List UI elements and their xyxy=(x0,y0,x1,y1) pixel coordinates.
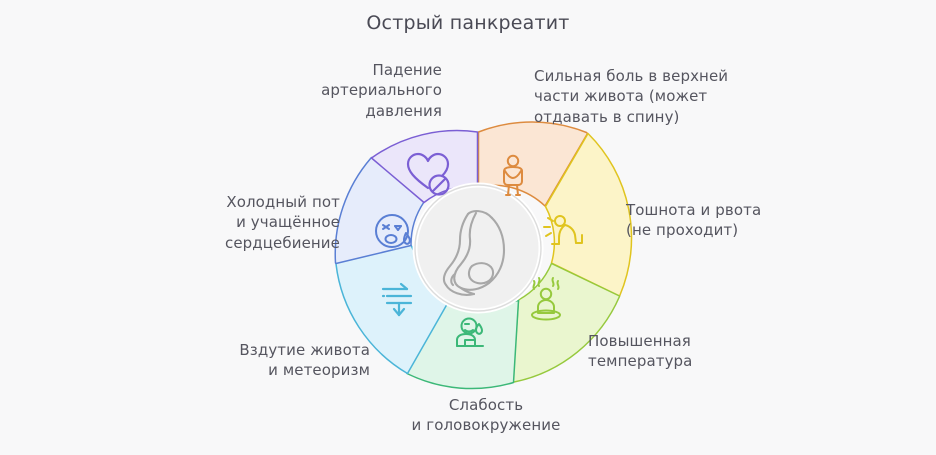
label-fever: Повышенная температура xyxy=(588,331,808,372)
infographic-canvas: Острый панкреатит xyxy=(0,0,936,455)
label-bloating: Вздутие живота и метеоризм xyxy=(150,340,370,381)
label-severe-pain: Сильная боль в верхней части живота (мож… xyxy=(534,66,794,127)
label-nausea-vomiting: Тошнота и рвота (не проходит) xyxy=(626,200,856,241)
label-cold-sweat: Холодный пот и учащённое сердцебиение xyxy=(140,192,340,253)
label-weakness-dizziness: Слабость и головокружение xyxy=(366,395,606,436)
label-low-blood-pressure: Падение артериального давления xyxy=(190,60,442,121)
